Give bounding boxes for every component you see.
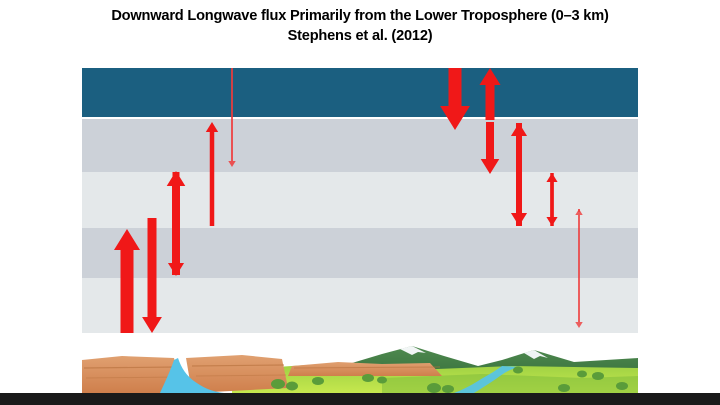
arrow-right-down-slim-shape	[546, 173, 557, 226]
landscape-svg	[82, 344, 638, 393]
arrow-far-right-down-thin-shape	[575, 209, 582, 328]
atmosphere-diagram	[82, 68, 638, 393]
arrow-lower-down-medium-svg	[159, 170, 193, 291]
arrow-right-down-medium	[502, 121, 536, 241]
arrow-upper-down-medium-shape	[481, 122, 500, 174]
title-line-1: Downward Longwave flux Primarily from th…	[0, 6, 720, 26]
arrow-mid-down-thin	[222, 68, 242, 175]
atmosphere-band-2	[82, 119, 638, 172]
arrow-mid-up-slim-shape	[206, 122, 218, 226]
arrow-mid-down-thin-svg	[222, 68, 242, 175]
upper-troposphere-band	[82, 68, 638, 117]
arrow-right-down-slim	[539, 171, 565, 237]
arrow-top-up-thick-shape	[479, 68, 500, 120]
arrow-far-right-down-thin-svg	[569, 207, 589, 336]
arrow-far-right-down-thin	[569, 207, 589, 336]
arrow-far-right-up-thin-svg	[569, 207, 589, 220]
arrow-right-down-medium-svg	[502, 121, 536, 241]
page-title: Downward Longwave flux Primarily from th…	[0, 6, 720, 46]
title-line-2: Stephens et al. (2012)	[0, 26, 720, 46]
arrow-mid-down-thin-shape	[228, 68, 235, 167]
arrow-right-down-slim-svg	[539, 171, 565, 237]
arrow-lower-down-medium	[159, 170, 193, 291]
arrow-far-right-up-thin	[569, 207, 589, 220]
landscape-illustration	[82, 344, 638, 393]
bottom-strip	[0, 393, 720, 405]
arrow-top-down-thick-shape	[440, 68, 470, 130]
arrow-right-down-medium-shape	[511, 123, 527, 226]
arrow-lower-down-medium-shape	[168, 172, 184, 276]
arrow-far-right-up-thin-shape	[575, 209, 582, 215]
